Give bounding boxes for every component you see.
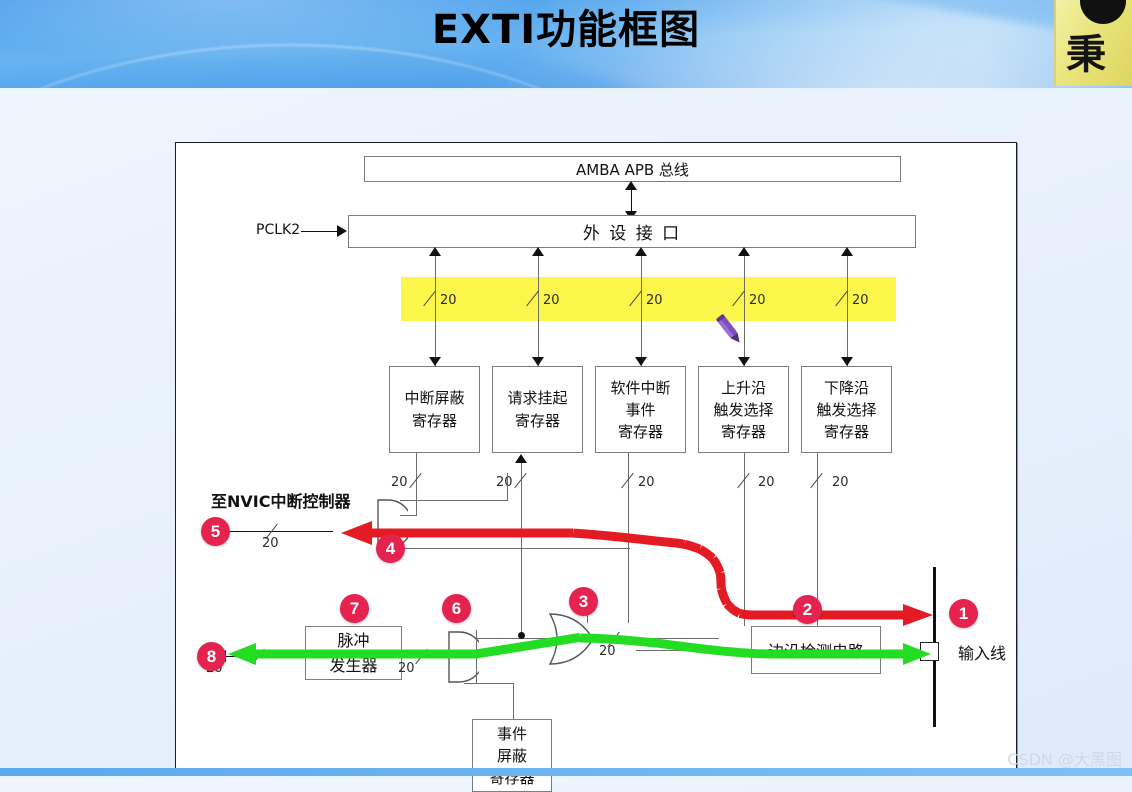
nvic-output-line xyxy=(228,531,333,532)
event-and-gate xyxy=(443,630,479,684)
badge-number: 3 xyxy=(579,592,588,612)
bus-arrow-down-3-icon xyxy=(635,357,647,366)
pending-reg-arrow-up-icon xyxy=(515,454,527,463)
bus-arrow-up-2-icon xyxy=(532,247,544,256)
event-mask-to-and-line xyxy=(464,683,514,684)
badge-5-nvic-output[interactable]: 5 xyxy=(201,517,230,546)
badge-1-input-line[interactable]: 1 xyxy=(949,599,978,628)
and-gate-feed-bottom xyxy=(400,548,630,549)
badge-number: 4 xyxy=(386,539,395,559)
bus-width-label-1: 20 xyxy=(440,293,457,308)
bus-width-label-3: 20 xyxy=(646,293,663,308)
pulse-generator-box: 脉冲 发生器 xyxy=(305,626,402,680)
badge-8-event-output[interactable]: 8 xyxy=(197,642,226,671)
event-mask-riser xyxy=(513,683,514,719)
register-line-3: 寄存器 xyxy=(721,421,766,443)
register-box-pending-request-register: 请求挂起 寄存器 xyxy=(492,366,583,453)
badge-2-edge-detect[interactable]: 2 xyxy=(793,595,822,624)
event-mask-register-box: 事件 屏蔽 寄存器 xyxy=(472,719,552,792)
or-to-and-line xyxy=(476,638,551,639)
logo-circle-icon xyxy=(1080,0,1126,24)
event-and-width-label: 20 xyxy=(398,661,415,676)
page-title: EXTI功能框图 xyxy=(0,2,1132,58)
event-path-arrow-left-icon xyxy=(228,643,256,665)
register-line-3: 寄存器 xyxy=(618,421,663,443)
badge-number: 5 xyxy=(211,522,220,542)
edge-detect-left-line xyxy=(636,650,752,651)
highlighter-pen-icon xyxy=(714,313,746,349)
brand-logo: 秉 xyxy=(1054,0,1132,86)
peripheral-interface-label: 外 设 接 口 xyxy=(583,219,681,244)
bus-arrow-up-1-icon xyxy=(429,247,441,256)
register-line-1: 上升沿 xyxy=(721,377,766,399)
register-line-2: 寄存器 xyxy=(515,410,560,433)
bus-arrow-down-1-icon xyxy=(429,357,441,366)
badge-6-event-and-gate[interactable]: 6 xyxy=(442,594,471,623)
mask-reg-down-line xyxy=(416,453,417,515)
badge-number: 1 xyxy=(959,604,968,624)
slide-header-banner: EXTI功能框图 秉 xyxy=(0,0,1132,88)
register-line-1: 请求挂起 xyxy=(507,387,567,410)
register-box-software-interrupt-event-register: 软件中断 事件 寄存器 xyxy=(595,366,686,453)
bus-width-label-4: 20 xyxy=(749,293,766,308)
register-line-2: 触发选择 xyxy=(713,399,773,421)
interrupt-path-arrow-left-icon xyxy=(341,521,372,545)
badge-4-interrupt-and-gate[interactable]: 4 xyxy=(376,534,405,563)
register-box-interrupt-mask-register: 中断屏蔽 寄存器 xyxy=(389,366,480,453)
amba-apb-bus-label: AMBA APB 总线 xyxy=(576,159,689,180)
pclk2-line xyxy=(301,231,339,232)
bus-line-1 xyxy=(435,256,436,366)
bus-arrow-down-5-icon xyxy=(841,357,853,366)
bus-width-label-9: 20 xyxy=(758,475,775,490)
badge-3-or-gate[interactable]: 3 xyxy=(569,587,598,616)
register-line-2: 触发选择 xyxy=(816,399,876,421)
logo-character: 秉 xyxy=(1066,22,1106,80)
and-gate-right-riser xyxy=(507,473,508,501)
and-to-pulsegen-line xyxy=(402,656,446,657)
bus-width-label-7: 20 xyxy=(496,475,513,490)
nvic-label: 至NVIC中断控制器 xyxy=(211,488,350,512)
register-line-1: 下降沿 xyxy=(824,377,869,399)
bus-line-3 xyxy=(641,256,642,366)
exti-block-diagram: AMBA APB 总线 PCLK2 外 设 接 口 20 20 20 20 20 xyxy=(175,142,1017,774)
pulse-generator-line-2: 发生器 xyxy=(329,653,377,678)
badge-number: 2 xyxy=(803,600,812,620)
register-line-2: 事件 xyxy=(625,399,655,421)
badge-number: 8 xyxy=(207,647,216,667)
pclk2-arrow-icon xyxy=(337,225,347,237)
peripheral-interface-box: 外 设 接 口 xyxy=(348,215,916,248)
bus-width-label-11: 20 xyxy=(262,536,279,551)
pclk2-label: PCLK2 xyxy=(256,222,300,238)
bus-width-label-10: 20 xyxy=(832,475,849,490)
pulse-generator-line-1: 脉冲 xyxy=(337,628,369,653)
event-output-line xyxy=(226,656,306,657)
event-mask-line-2: 屏蔽 xyxy=(497,745,527,767)
bus-link-arrow-up-icon xyxy=(625,181,637,190)
edge-detect-label: 边沿检测电路 xyxy=(768,638,864,662)
or-gate-out-line xyxy=(591,638,719,639)
signal-junction-dot xyxy=(518,632,525,639)
and-gate-feed-top xyxy=(400,500,508,501)
bus-arrow-down-2-icon xyxy=(532,357,544,366)
interrupt-path-arrow-right-icon xyxy=(903,604,933,626)
badge-number: 6 xyxy=(452,599,461,619)
bus-line-4 xyxy=(744,256,745,366)
event-mask-line-1: 事件 xyxy=(497,723,527,745)
bus-arrow-up-4-icon xyxy=(738,247,750,256)
register-box-rising-edge-trigger-select-register: 上升沿 触发选择 寄存器 xyxy=(698,366,789,453)
amba-apb-bus-box: AMBA APB 总线 xyxy=(364,156,901,182)
input-line-connector xyxy=(920,642,939,661)
pending-reg-line xyxy=(521,463,522,638)
register-line-3: 寄存器 xyxy=(824,421,869,443)
input-line-label: 输入线 xyxy=(958,640,1006,664)
register-line-1: 中断屏蔽 xyxy=(404,387,464,410)
register-box-falling-edge-trigger-select-register: 下降沿 触发选择 寄存器 xyxy=(801,366,892,453)
or-out-width-label: 20 xyxy=(599,644,616,659)
bus-arrow-up-5-icon xyxy=(841,247,853,256)
or-gate xyxy=(544,611,598,667)
csdn-watermark: CSDN @大黑图 xyxy=(1007,746,1122,770)
register-line-1: 软件中断 xyxy=(610,377,670,399)
bus-width-label-8: 20 xyxy=(638,475,655,490)
badge-7-pulse-generator[interactable]: 7 xyxy=(340,594,369,623)
bus-width-label-5: 20 xyxy=(852,293,869,308)
bus-width-label-2: 20 xyxy=(543,293,560,308)
edge-detect-circuit-box: 边沿检测电路 xyxy=(751,626,881,674)
bus-arrow-up-3-icon xyxy=(635,247,647,256)
slide-bottom-bar xyxy=(0,768,1132,776)
badge-number: 7 xyxy=(350,599,359,619)
bus-width-label-6: 20 xyxy=(391,475,408,490)
bus-arrow-down-4-icon xyxy=(738,357,750,366)
bus-line-2 xyxy=(538,256,539,366)
bus-line-5 xyxy=(847,256,848,366)
register-line-2: 寄存器 xyxy=(412,410,457,433)
